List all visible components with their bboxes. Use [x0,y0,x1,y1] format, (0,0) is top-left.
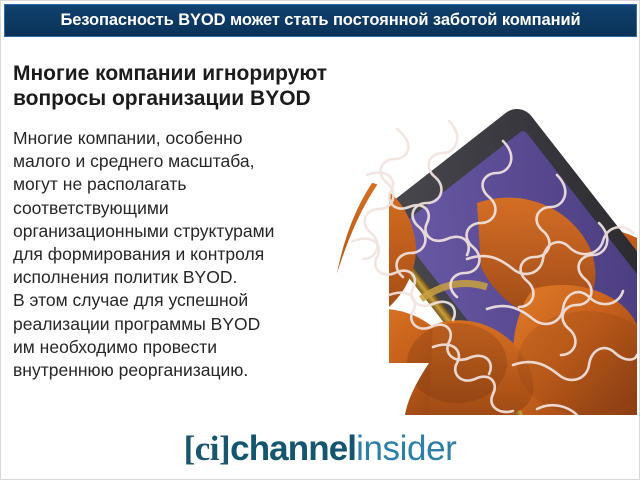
header-bar: Безопасность BYOD может стать постоянной… [4,4,637,37]
logo-bracket-left: [ [184,429,195,468]
body-line: исполнения политик BYOD. [13,266,343,289]
logo-ci-mark: ci [195,429,219,468]
body-line: могут не располагать [13,173,343,196]
body-line: малого и среднего масштаба, [13,150,343,173]
body-line: внутреннюю реорганизацию. [13,359,343,382]
logo-channel-word: channel [230,429,356,468]
body-line: им необходимо провести [13,336,343,359]
header-title: Безопасность BYOD может стать постоянной… [60,11,580,30]
body-line: реализации программы BYOD [13,313,343,336]
heading-line-2: вопросы организации BYOD [13,86,385,111]
slide-canvas: Безопасность BYOD может стать постоянной… [0,0,640,480]
body-line: для формирования и контроля [13,243,343,266]
body-line: Многие компании, особенно [13,127,343,150]
logo-insider-word: insider [356,429,456,468]
heading-line-1: Многие компании игнорируют [13,61,385,86]
logo-bracket-right: ] [219,429,230,468]
channelinsider-logo: [ci]channelinsider [1,429,639,469]
body-text: Многие компании, особенно малого и средн… [13,127,343,382]
body-line: организационными структурами [13,220,343,243]
photo-illustration [337,63,637,415]
photo-hand-holding-smartphone [337,63,637,415]
page-title: Многие компании игнорируют вопросы орган… [13,61,385,111]
body-line: соответствующими [13,197,343,220]
body-line: В этом случае для успешной [13,289,343,312]
